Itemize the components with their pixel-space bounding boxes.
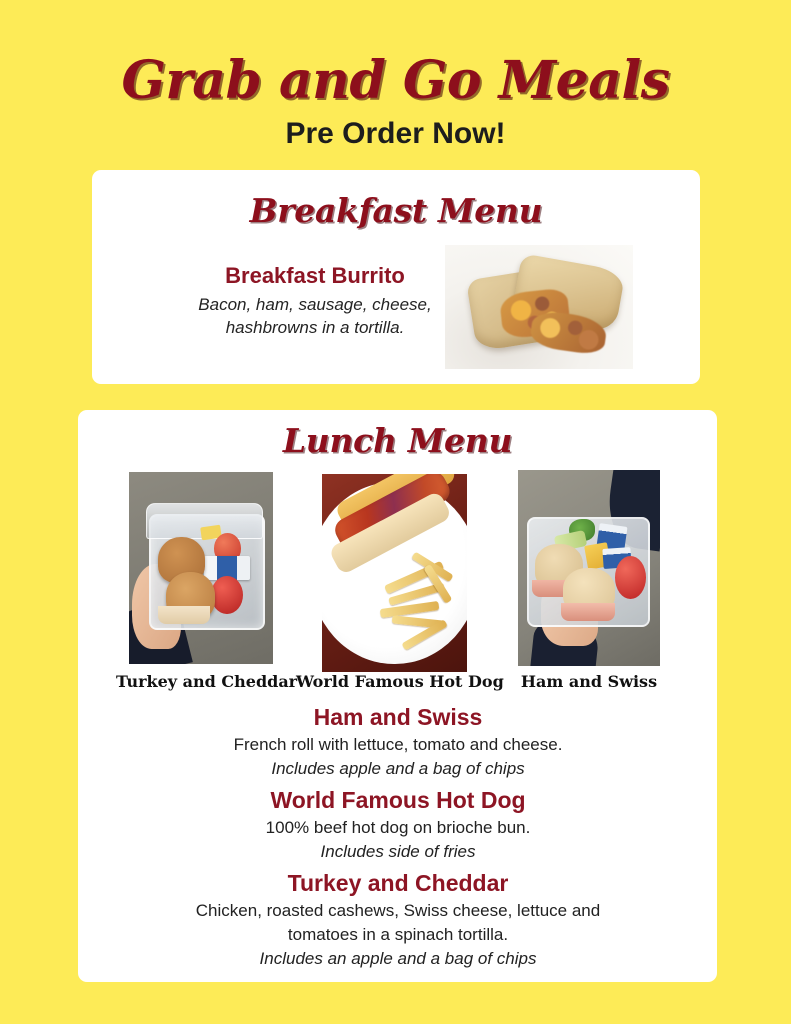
lunch-item-includes: Includes apple and a bag of chips [98, 757, 698, 781]
photo1-bread-edge [158, 606, 210, 623]
photo-caption-world-famous-hot-dog: World Famous Hot Dog [296, 672, 494, 692]
lunch-item-name: Turkey and Cheddar [98, 868, 698, 899]
breakfast-item-description-line-1: Bacon, ham, sausage, cheese, [198, 295, 431, 314]
grab-and-go-meals-poster: Grab and Go Meals Pre Order Now! Breakfa… [0, 0, 791, 1024]
photo3-apple [615, 556, 646, 599]
lunch-item-includes: Includes an apple and a bag of chips [98, 947, 698, 971]
lunch-item-world-famous-hot-dog: World Famous Hot Dog 100% beef hot dog o… [98, 785, 698, 864]
world-famous-hot-dog-photo [322, 474, 467, 672]
lunch-item-description: 100% beef hot dog on brioche bun. [98, 816, 698, 840]
photo-caption-ham-and-swiss: Ham and Swiss [508, 672, 670, 692]
photo-caption-turkey-and-cheddar: Turkey and Cheddar [116, 672, 288, 692]
turkey-and-cheddar-photo [129, 472, 273, 664]
photo3-ham-layer-bottom [561, 603, 615, 621]
breakfast-item-description-line-2: hashbrowns in a tortilla. [226, 318, 405, 337]
lunch-item-name: World Famous Hot Dog [98, 785, 698, 816]
lunch-item-ham-and-swiss: Ham and Swiss French roll with lettuce, … [98, 702, 698, 781]
lunch-item-turkey-and-cheddar: Turkey and Cheddar Chicken, roasted cash… [98, 868, 698, 971]
lunch-menu-heading: Lunch Menu [78, 422, 717, 460]
lunch-item-description: French roll with lettuce, tomato and che… [98, 733, 698, 757]
photo1-apple-bottom [211, 576, 243, 614]
ham-and-swiss-photo [518, 470, 660, 666]
breakfast-burrito-photo [445, 245, 633, 369]
breakfast-item-block: Breakfast Burrito Bacon, ham, sausage, c… [150, 262, 480, 339]
photo2-fries [380, 561, 464, 656]
lunch-item-list: Ham and Swiss French roll with lettuce, … [98, 702, 698, 975]
breakfast-item-description: Bacon, ham, sausage, cheese, hashbrowns … [150, 293, 480, 339]
page-subtitle: Pre Order Now! [0, 115, 791, 153]
breakfast-menu-heading: Breakfast Menu [92, 192, 700, 230]
breakfast-item-name: Breakfast Burrito [150, 262, 480, 290]
breakfast-menu-card: Breakfast Menu Breakfast Burrito Bacon, … [92, 170, 700, 384]
page-title: Grab and Go Meals [0, 52, 791, 110]
lunch-item-description-line-2: tomatoes in a spinach tortilla. [98, 923, 698, 947]
lunch-item-includes: Includes side of fries [98, 840, 698, 864]
lunch-item-name: Ham and Swiss [98, 702, 698, 733]
lunch-item-description-line-1: Chicken, roasted cashews, Swiss cheese, … [98, 899, 698, 923]
lunch-menu-card: Lunch Menu [78, 410, 717, 982]
